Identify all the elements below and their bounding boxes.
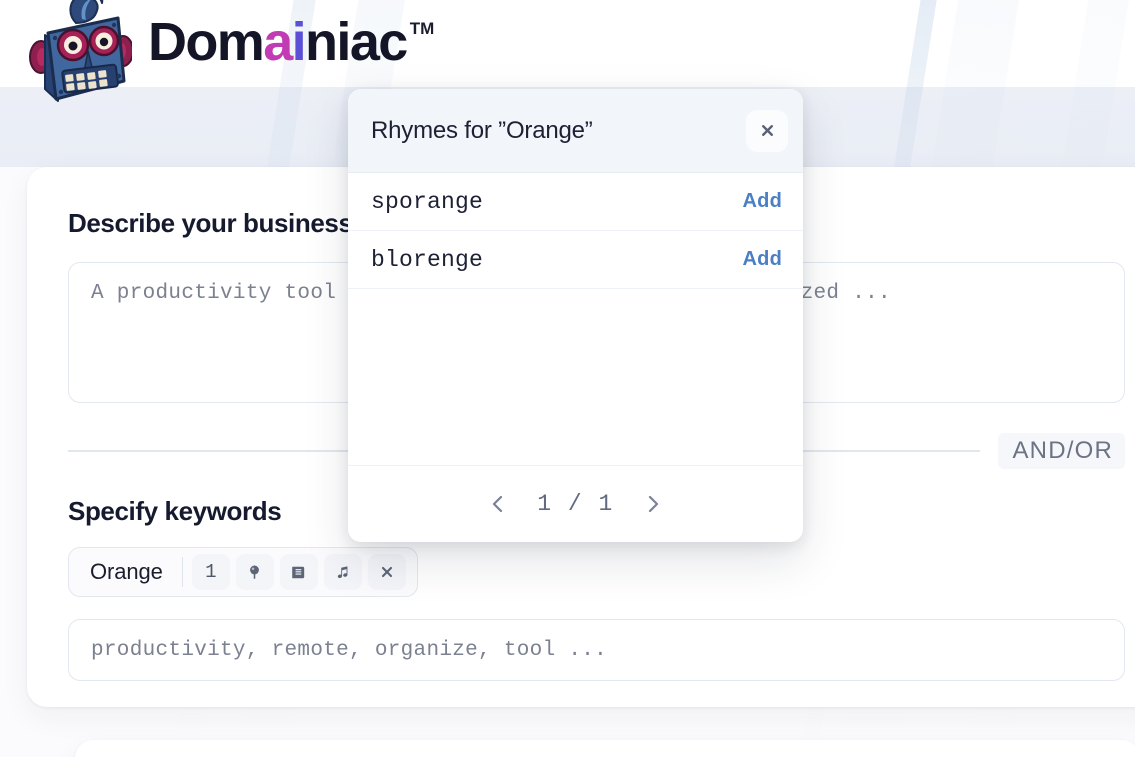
chevron-left-icon[interactable] — [485, 488, 511, 520]
brand-name-letter-i: i — [292, 12, 305, 72]
rhymes-list-empty-space — [348, 289, 803, 465]
keyword-chip-separator — [182, 557, 183, 587]
keyword-chip-count-badge[interactable]: 1 — [192, 554, 230, 590]
rhymes-modal: Rhymes for ”Orange” sporange Add bloreng… — [348, 89, 803, 542]
brand-name: Domainiac — [148, 15, 407, 69]
secondary-card — [75, 740, 1135, 757]
rhyme-word: blorenge — [371, 247, 483, 273]
and-or-badge[interactable]: AND/OR — [998, 433, 1125, 469]
keyword-chip-label: Orange — [69, 559, 182, 585]
robot-head-icon — [24, 0, 132, 107]
list-item[interactable]: blorenge Add — [348, 231, 803, 289]
rhymes-list: sporange Add blorenge Add — [348, 173, 803, 465]
close-icon[interactable] — [746, 110, 788, 152]
trademark-symbol: TM — [410, 19, 435, 39]
keywords-input-placeholder: productivity, remote, organize, tool ... — [91, 639, 607, 662]
brand-name-part2: niac — [305, 12, 407, 72]
music-note-icon[interactable] — [324, 554, 362, 590]
list-item[interactable]: sporange Add — [348, 173, 803, 231]
add-rhyme-button[interactable]: Add — [743, 190, 782, 213]
close-icon[interactable] — [368, 554, 406, 590]
app-header: Domainiac TM — [0, 0, 1135, 90]
rhyme-word: sporange — [371, 189, 483, 215]
book-icon[interactable] — [280, 554, 318, 590]
rhymes-pagination: 1 / 1 — [348, 465, 803, 542]
brand-logotype: Domainiac TM — [148, 15, 434, 69]
rhymes-modal-header: Rhymes for ”Orange” — [348, 89, 803, 173]
pagination-label: 1 / 1 — [537, 491, 614, 517]
brand-name-letter-a: a — [263, 12, 291, 72]
keywords-input[interactable]: productivity, remote, organize, tool ... — [68, 619, 1125, 681]
pin-icon[interactable] — [236, 554, 274, 590]
chevron-right-icon[interactable] — [640, 488, 666, 520]
keyword-chip-orange[interactable]: Orange 1 — [68, 547, 418, 597]
add-rhyme-button[interactable]: Add — [743, 248, 782, 271]
brand-name-part1: Dom — [148, 12, 263, 72]
rhymes-modal-title: Rhymes for ”Orange” — [371, 117, 593, 145]
